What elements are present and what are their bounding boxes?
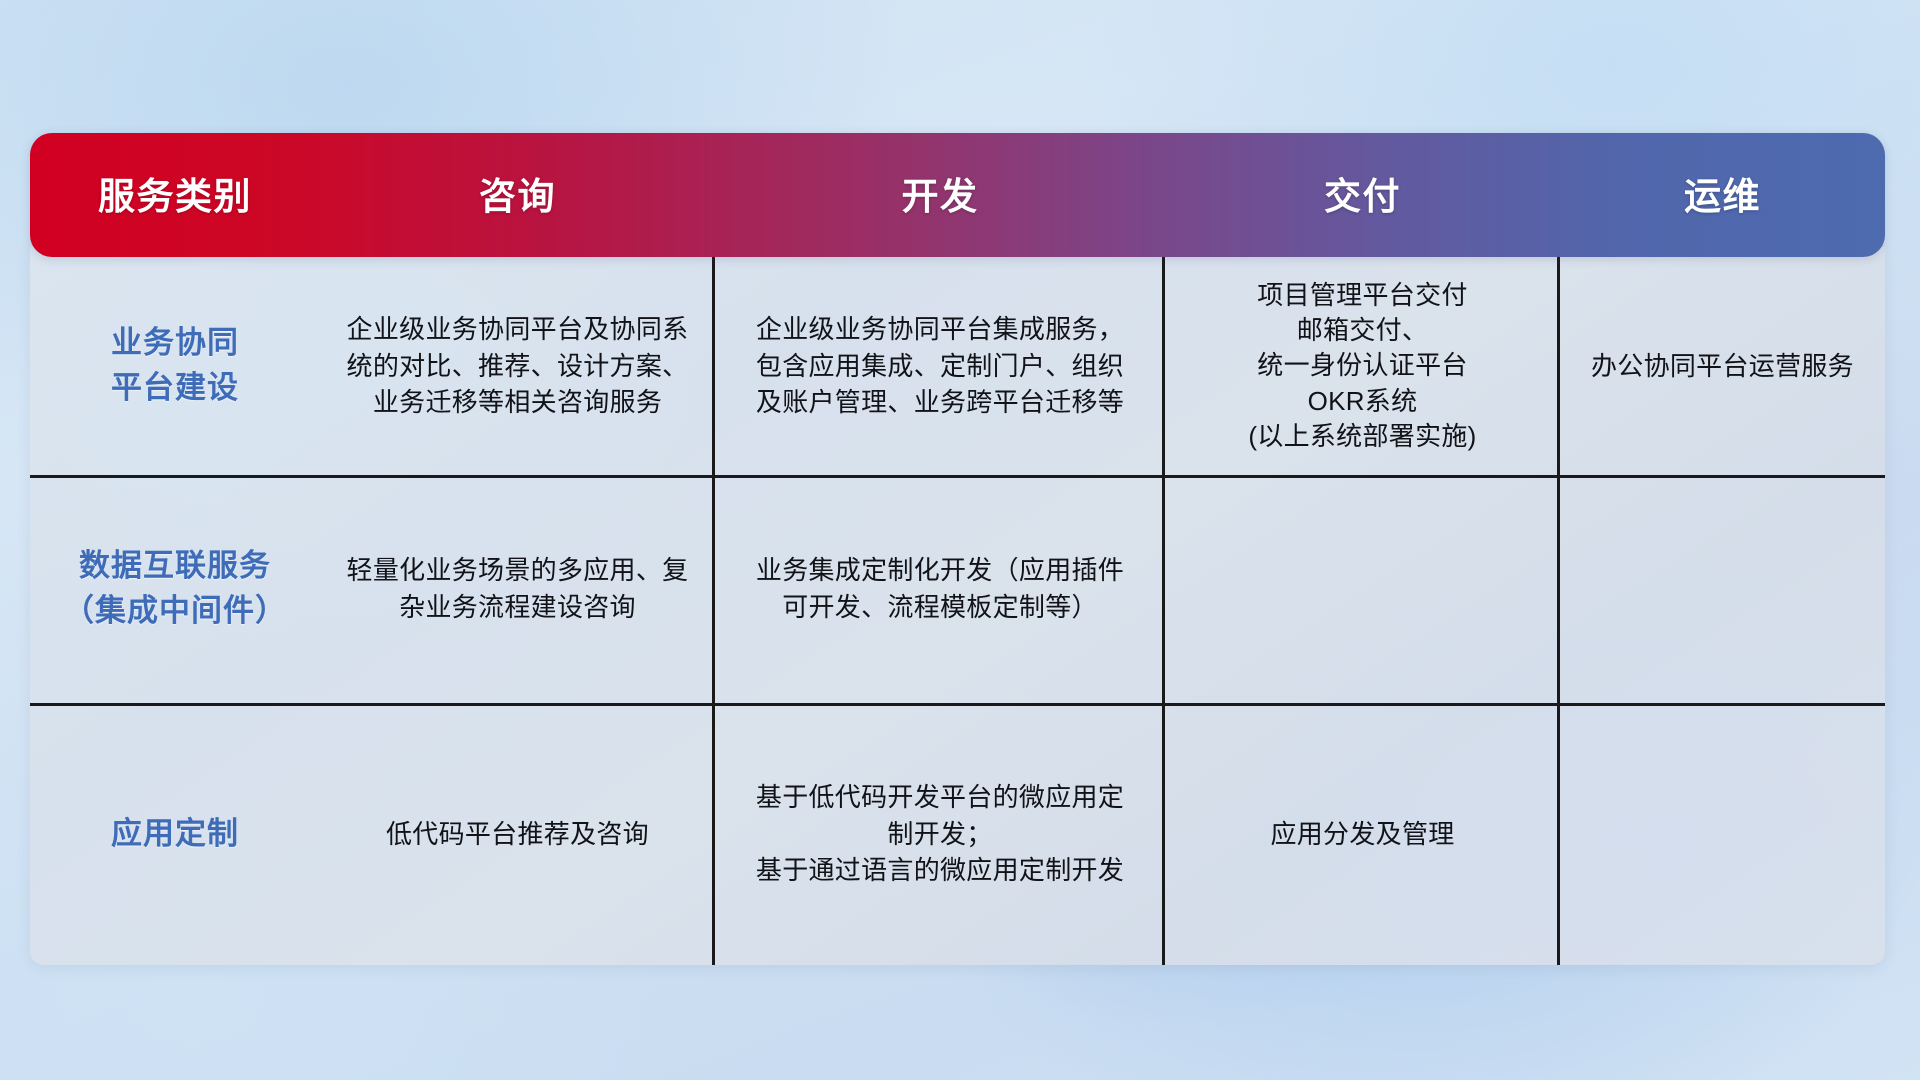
cell-text: 基于低代码开发平台的微应用定 制开发； 基于通过语言的微应用定制开发 xyxy=(756,779,1124,890)
cell-consulting: 低代码平台推荐及咨询 xyxy=(320,703,715,965)
cell-text: 企业级业务协同平台及协同系 统的对比、推荐、设计方案、 业务迁移等相关咨询服务 xyxy=(347,311,689,422)
cell-category: 应用定制 xyxy=(30,703,320,965)
column-header-delivery: 交付 xyxy=(1165,133,1560,257)
cell-operations xyxy=(1560,475,1885,703)
service-matrix-table: 服务类别 咨询 开发 交付 运维 业务协同 平台建设 企业级业务协同平台及协同系… xyxy=(30,133,1885,965)
cell-text: 应用分发及管理 xyxy=(1270,816,1454,853)
cell-category: 数据互联服务 （集成中间件） xyxy=(30,475,320,703)
cell-delivery: 项目管理平台交付 邮箱交付、 统一身份认证平台 OKR系统 (以上系统部署实施) xyxy=(1165,257,1560,475)
column-header-development: 开发 xyxy=(715,133,1165,257)
cell-delivery: 应用分发及管理 xyxy=(1165,703,1560,965)
cell-text: 低代码平台推荐及咨询 xyxy=(386,816,649,853)
cell-text: 项目管理平台交付 邮箱交付、 统一身份认证平台 OKR系统 (以上系统部署实施) xyxy=(1248,278,1476,455)
cell-consulting: 企业级业务协同平台及协同系 统的对比、推荐、设计方案、 业务迁移等相关咨询服务 xyxy=(320,257,715,475)
cell-text: 办公协同平台运营服务 xyxy=(1591,348,1854,385)
cell-development: 基于低代码开发平台的微应用定 制开发； 基于通过语言的微应用定制开发 xyxy=(715,703,1165,965)
table-header-row: 服务类别 咨询 开发 交付 运维 xyxy=(30,133,1885,257)
cell-consulting: 轻量化业务场景的多应用、复 杂业务流程建设咨询 xyxy=(320,475,715,703)
cell-text: 轻量化业务场景的多应用、复 杂业务流程建设咨询 xyxy=(347,552,689,626)
cell-text: 业务集成定制化开发（应用插件 可开发、流程模板定制等） xyxy=(756,552,1124,626)
table-row: 数据互联服务 （集成中间件） 轻量化业务场景的多应用、复 杂业务流程建设咨询 业… xyxy=(30,475,1885,703)
table-row: 应用定制 低代码平台推荐及咨询 基于低代码开发平台的微应用定 制开发； 基于通过… xyxy=(30,703,1885,965)
cell-development: 业务集成定制化开发（应用插件 可开发、流程模板定制等） xyxy=(715,475,1165,703)
category-label: 业务协同 平台建设 xyxy=(111,321,239,411)
cell-operations: 办公协同平台运营服务 xyxy=(1560,257,1885,475)
column-header-consulting: 咨询 xyxy=(320,133,715,257)
column-header-operations: 运维 xyxy=(1560,133,1885,257)
cell-development: 企业级业务协同平台集成服务， 包含应用集成、定制门户、组织 及账户管理、业务跨平… xyxy=(715,257,1165,475)
column-header-category: 服务类别 xyxy=(30,133,320,257)
cell-operations xyxy=(1560,703,1885,965)
cell-category: 业务协同 平台建设 xyxy=(30,257,320,475)
category-label: 数据互联服务 （集成中间件） xyxy=(63,544,287,634)
category-label: 应用定制 xyxy=(111,812,239,857)
table-row: 业务协同 平台建设 企业级业务协同平台及协同系 统的对比、推荐、设计方案、 业务… xyxy=(30,257,1885,475)
table-body: 业务协同 平台建设 企业级业务协同平台及协同系 统的对比、推荐、设计方案、 业务… xyxy=(30,247,1885,965)
cell-delivery xyxy=(1165,475,1560,703)
cell-text: 企业级业务协同平台集成服务， 包含应用集成、定制门户、组织 及账户管理、业务跨平… xyxy=(756,311,1124,422)
